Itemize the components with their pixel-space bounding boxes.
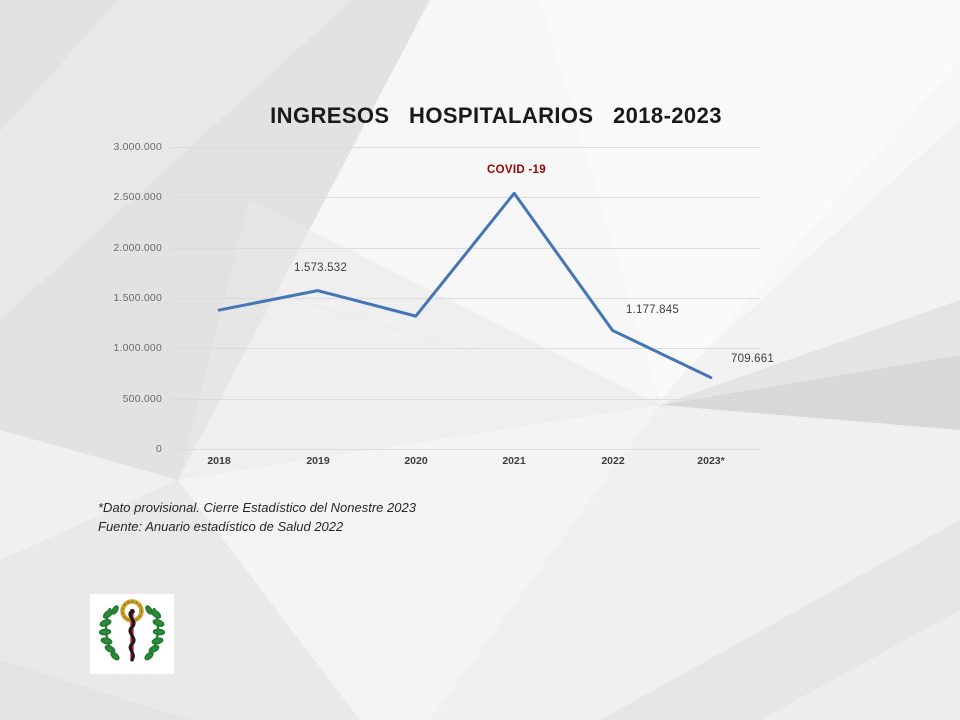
data-label-2022: 1.177.845 [626, 304, 679, 316]
footnote-source: Fuente: Anuario estadístico de Salud 202… [98, 517, 416, 536]
x-tick-label-2022: 2022 [601, 455, 624, 467]
y-tick-label: 500.000 [123, 393, 162, 405]
y-tick-label: 3.000.000 [113, 141, 162, 153]
x-tick-label-2021: 2021 [502, 455, 525, 467]
y-tick-label: 2.500.000 [113, 191, 162, 203]
covid-annotation: COVID -19 [487, 164, 546, 176]
data-label-2019: 1.573.532 [294, 262, 347, 274]
y-tick-label: 1.000.000 [113, 342, 162, 354]
chart-title: INGRESOS HOSPITALARIOS 2018-2023 [0, 103, 960, 129]
y-axis: 3.000.000 2.500.000 2.000.000 1.500.000 … [100, 147, 162, 449]
data-label-2023: 709.661 [731, 353, 774, 365]
x-tick-label-2020: 2020 [404, 455, 427, 467]
plot-area [170, 147, 760, 449]
data-line-ingresos [219, 193, 711, 377]
x-tick-label-2018: 2018 [207, 455, 230, 467]
slide-canvas: INGRESOS HOSPITALARIOS 2018-2023 3.000.0… [0, 0, 960, 720]
x-tick-label-2019: 2019 [306, 455, 329, 467]
y-tick-label: 2.000.000 [113, 242, 162, 254]
x-tick-label-2023: 2023* [697, 455, 724, 467]
rod-of-asclepius-icon [90, 594, 174, 674]
gridline [170, 449, 760, 450]
organization-logo [90, 594, 174, 674]
line-series-svg [170, 147, 760, 449]
x-axis: 2018 2019 2020 2021 2022 2023* [170, 455, 760, 475]
footnotes: *Dato provisional. Cierre Estadístico de… [98, 498, 416, 536]
y-tick-label: 1.500.000 [113, 292, 162, 304]
footnote-provisional: *Dato provisional. Cierre Estadístico de… [98, 498, 416, 517]
y-tick-label: 0 [156, 443, 162, 455]
